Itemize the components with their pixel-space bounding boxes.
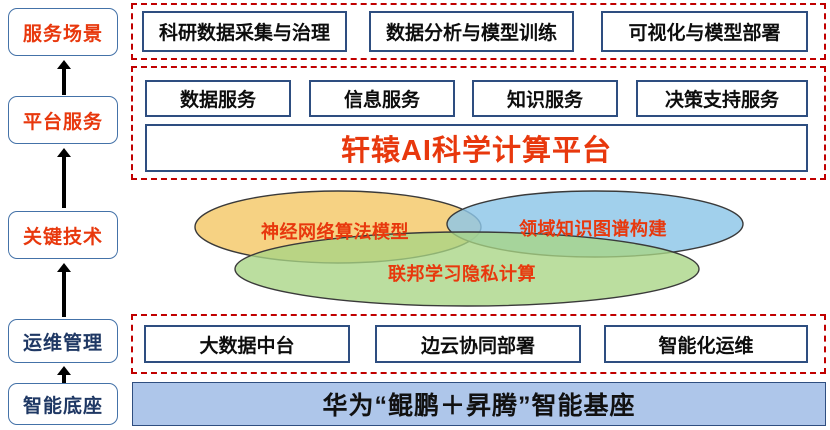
platform-service-label: 信息服务 [344,85,420,112]
scenario-box-data-collection[interactable]: 科研数据采集与治理 [142,11,347,52]
arrow-shaft [62,373,66,383]
arrow-shaft [62,67,66,95]
venn-label-knowledge-graph: 领域知识图谱构建 [519,215,667,241]
venn-svg [130,185,830,310]
platform-service-information[interactable]: 信息服务 [309,80,455,117]
scenario-box-analysis-training[interactable]: 数据分析与模型训练 [369,11,574,52]
rail-arrow-4 [57,366,71,383]
base-layer-label: 华为“鲲鹏＋昇腾”智能基座 [322,386,635,422]
platform-service-decision-support[interactable]: 决策支持服务 [636,80,808,117]
platform-service-label: 知识服务 [507,85,583,112]
rail-item-label: 运维管理 [23,328,103,355]
rail-item-label: 智能底座 [23,391,103,418]
arrow-shaft [62,155,66,208]
scenario-box-label: 科研数据采集与治理 [159,18,330,45]
base-layer-box[interactable]: 华为“鲲鹏＋昇腾”智能基座 [132,382,826,426]
rail-item-key-technology[interactable]: 关键技术 [8,211,118,259]
platform-service-label: 数据服务 [180,85,256,112]
venn-label-federated-learning: 联邦学习隐私计算 [388,260,536,286]
rail-item-label: 关键技术 [23,222,103,249]
platform-name-box[interactable]: 轩辕AI科学计算平台 [145,124,808,172]
venn-label-neural-network: 神经网络算法模型 [261,218,409,244]
rail-arrow-3 [57,263,71,317]
ops-box-label: 智能化运维 [658,331,753,358]
scenario-box-label: 数据分析与模型训练 [386,18,557,45]
rail-item-service-scenario[interactable]: 服务场景 [8,8,118,56]
architecture-diagram: 服务场景 平台服务 关键技术 运维管理 智能底座 科研数据采集与治理 数据分析与… [0,0,830,430]
arrow-shaft [62,270,66,317]
ops-box-label: 大数据中台 [199,331,294,358]
scenario-box-label: 可视化与模型部署 [628,18,780,45]
ops-box-big-data-platform[interactable]: 大数据中台 [144,325,350,363]
rail-arrow-2 [57,148,71,208]
ops-box-intelligent-operations[interactable]: 智能化运维 [604,325,808,363]
platform-service-data[interactable]: 数据服务 [145,80,291,117]
scenario-box-visualization-deployment[interactable]: 可视化与模型部署 [601,11,808,52]
platform-service-knowledge[interactable]: 知识服务 [472,80,618,117]
key-technology-venn: 神经网络算法模型 领域知识图谱构建 联邦学习隐私计算 [130,185,830,310]
ops-box-label: 边云协同部署 [421,331,535,358]
rail-item-operations-management[interactable]: 运维管理 [8,319,118,363]
ops-box-edge-cloud-deployment[interactable]: 边云协同部署 [375,325,581,363]
rail-arrow-1 [57,60,71,95]
rail-item-label: 服务场景 [23,19,103,46]
platform-name-label: 轩辕AI科学计算平台 [341,127,612,169]
rail-item-label: 平台服务 [23,107,103,134]
rail-item-platform-service[interactable]: 平台服务 [8,96,118,144]
rail-item-intelligent-foundation[interactable]: 智能底座 [8,383,118,425]
platform-service-label: 决策支持服务 [665,85,779,112]
